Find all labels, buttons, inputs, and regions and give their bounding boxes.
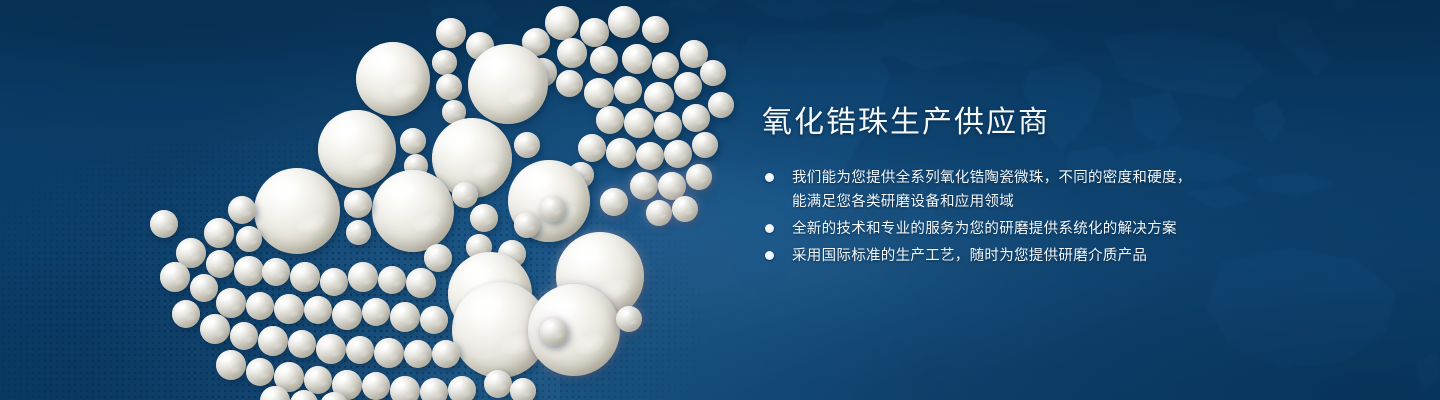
bead bbox=[234, 256, 264, 286]
bead bbox=[436, 74, 462, 100]
page-title: 氧化锆珠生产供应商 bbox=[762, 104, 1382, 142]
bead bbox=[346, 336, 374, 364]
bead bbox=[484, 370, 512, 398]
bead bbox=[236, 226, 262, 252]
list-item-label: 采用国际标准的生产工艺，随时为您提供研磨介质产品 bbox=[792, 244, 1382, 268]
bead bbox=[160, 262, 190, 292]
bead bbox=[204, 218, 234, 248]
bead bbox=[654, 112, 682, 140]
bead bbox=[452, 182, 478, 208]
bead bbox=[406, 268, 436, 298]
bead bbox=[686, 164, 712, 190]
bead bbox=[556, 70, 583, 97]
bead bbox=[172, 300, 200, 328]
bead bbox=[624, 108, 654, 138]
bead bbox=[557, 38, 587, 68]
bead bbox=[432, 50, 457, 75]
bead bbox=[420, 378, 448, 400]
bead bbox=[608, 6, 640, 38]
bead bbox=[390, 302, 420, 332]
bead bbox=[288, 330, 316, 358]
bead bbox=[664, 140, 692, 168]
bead bbox=[630, 172, 658, 200]
bead bbox=[258, 326, 288, 356]
bead bbox=[274, 294, 304, 324]
bead bbox=[332, 300, 362, 330]
hero-banner: 氧化锆珠生产供应商 我们能为您提供全系列氧化锆陶瓷微珠，不同的密度和硬度， 能满… bbox=[0, 0, 1440, 400]
bead bbox=[318, 110, 396, 188]
bead bbox=[622, 44, 652, 74]
bead bbox=[540, 318, 568, 346]
bead bbox=[468, 44, 548, 124]
bead bbox=[356, 42, 430, 116]
bead bbox=[246, 292, 274, 320]
bullet-dot-icon bbox=[765, 251, 774, 260]
bead bbox=[374, 338, 404, 368]
bead bbox=[448, 376, 476, 400]
bead bbox=[470, 204, 498, 232]
bead bbox=[644, 82, 674, 112]
list-item-label: 我们能为您提供全系列氧化锆陶瓷微珠，不同的密度和硬度， bbox=[792, 166, 1382, 190]
bead bbox=[216, 288, 246, 318]
list-item-label: 全新的技术和专业的服务为您的研磨提供系统化的解决方案 bbox=[792, 217, 1382, 241]
bead bbox=[692, 132, 718, 158]
bead bbox=[580, 18, 609, 47]
bead bbox=[262, 258, 290, 286]
bead bbox=[216, 350, 246, 380]
bead bbox=[200, 314, 230, 344]
bead bbox=[246, 358, 274, 386]
bead bbox=[362, 298, 390, 326]
bead bbox=[362, 372, 390, 400]
bead bbox=[206, 250, 234, 278]
bead bbox=[348, 262, 378, 292]
bead bbox=[616, 306, 642, 332]
bead bbox=[378, 266, 406, 294]
bead bbox=[432, 340, 460, 368]
bead bbox=[290, 262, 320, 292]
bead bbox=[700, 60, 726, 86]
bullet-dot-icon bbox=[765, 224, 774, 233]
list-item-label-continued: 能满足您各类研磨设备和应用领域 bbox=[792, 190, 1382, 214]
bead bbox=[510, 378, 536, 400]
bead bbox=[674, 72, 702, 100]
bead bbox=[708, 92, 734, 118]
bead bbox=[606, 138, 636, 168]
bead bbox=[652, 52, 679, 79]
bead bbox=[228, 196, 256, 224]
bead bbox=[320, 268, 348, 296]
bead bbox=[514, 132, 540, 158]
bead bbox=[584, 78, 614, 108]
bead bbox=[596, 106, 624, 134]
bead bbox=[636, 142, 664, 170]
bead bbox=[420, 306, 448, 334]
bead bbox=[372, 170, 454, 252]
bead bbox=[346, 220, 371, 245]
banner-copy: 氧化锆珠生产供应商 我们能为您提供全系列氧化锆陶瓷微珠，不同的密度和硬度， 能满… bbox=[762, 104, 1382, 271]
bead bbox=[540, 196, 566, 222]
bead bbox=[404, 340, 432, 368]
bead bbox=[590, 46, 618, 74]
bead bbox=[150, 210, 178, 238]
bead bbox=[344, 190, 372, 218]
bead bbox=[514, 212, 540, 238]
bead bbox=[682, 104, 710, 132]
list-item: 我们能为您提供全系列氧化锆陶瓷微珠，不同的密度和硬度， 能满足您各类研磨设备和应… bbox=[762, 166, 1382, 214]
bead bbox=[672, 196, 698, 222]
bead bbox=[545, 6, 579, 40]
bead bbox=[254, 168, 340, 254]
zirconia-beads-cluster bbox=[0, 0, 760, 400]
bead bbox=[390, 376, 420, 400]
list-item: 全新的技术和专业的服务为您的研磨提供系统化的解决方案 bbox=[762, 217, 1382, 241]
bead bbox=[304, 296, 332, 324]
bead bbox=[578, 134, 606, 162]
feature-list: 我们能为您提供全系列氧化锆陶瓷微珠，不同的密度和硬度， 能满足您各类研磨设备和应… bbox=[762, 166, 1382, 268]
bead bbox=[646, 200, 672, 226]
bead bbox=[424, 244, 452, 272]
bead bbox=[642, 16, 669, 43]
bead bbox=[230, 322, 258, 350]
bead bbox=[190, 274, 218, 302]
bead bbox=[316, 334, 346, 364]
bullet-dot-icon bbox=[765, 173, 774, 182]
bead bbox=[436, 18, 466, 48]
bead bbox=[400, 128, 426, 154]
list-item: 采用国际标准的生产工艺，随时为您提供研磨介质产品 bbox=[762, 244, 1382, 268]
bead bbox=[614, 76, 642, 104]
bead bbox=[600, 188, 628, 216]
